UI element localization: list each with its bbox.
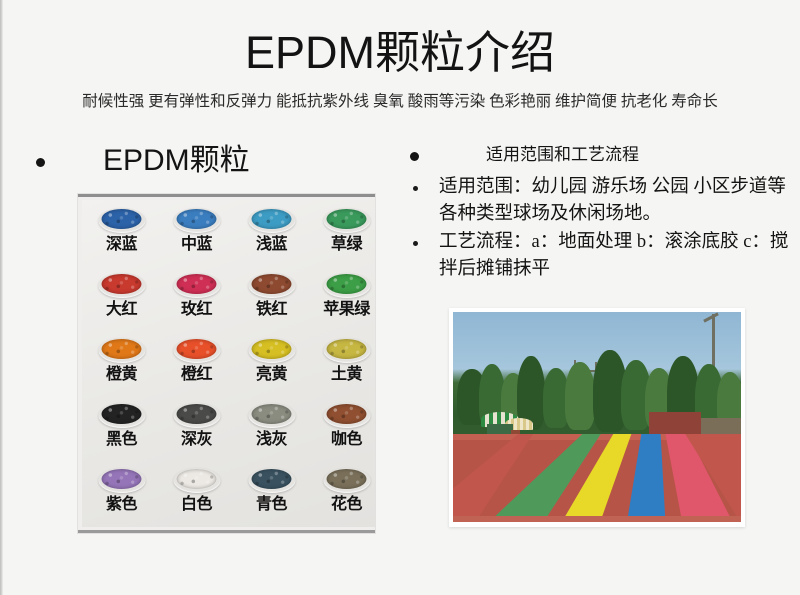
granule-grid: 深蓝中蓝浅蓝草绿大红玫红铁红苹果绿橙黄橙红亮黄土黄黑色深灰浅灰咖色紫色白色青色花…	[84, 208, 375, 533]
granule-dish	[98, 273, 145, 298]
granule-cell: 花色	[309, 468, 375, 533]
granule-dish	[248, 338, 295, 363]
tree-icon	[565, 362, 595, 430]
list-item: 适用范围：幼儿园 游乐场 公园 小区步道等各种类型球场及休闲场地。	[410, 174, 795, 228]
left-heading-row: EPDM颗粒	[36, 140, 396, 182]
granule-label: 玫红	[181, 300, 212, 320]
granule-cell: 紫色	[84, 468, 159, 533]
granule-cell: 橙黄	[84, 338, 159, 403]
granule-pellets	[177, 339, 217, 359]
granule-label: 浅灰	[256, 430, 287, 450]
right-column: 适用范围和工艺流程 适用范围：幼儿园 游乐场 公园 小区步道等各种类型球场及休闲…	[410, 142, 795, 284]
granule-cell: 铁红	[234, 273, 309, 338]
granule-color-chart-image: 深蓝中蓝浅蓝草绿大红玫红铁红苹果绿橙黄橙红亮黄土黄黑色深灰浅灰咖色紫色白色青色花…	[78, 194, 375, 533]
slide-left-edge	[0, 0, 3, 595]
granule-label: 亮黄	[256, 365, 287, 385]
granule-dish	[173, 403, 220, 428]
granule-row: 大红玫红铁红苹果绿	[84, 273, 375, 338]
granule-row: 紫色白色青色花色	[84, 468, 375, 533]
granule-pellets	[177, 469, 217, 489]
granule-cell: 浅灰	[234, 403, 309, 468]
granule-row: 深蓝中蓝浅蓝草绿	[84, 208, 375, 273]
granule-pellets	[102, 274, 142, 294]
granule-dish	[173, 208, 220, 233]
granule-cell: 黑色	[84, 403, 159, 468]
granule-dish	[323, 273, 370, 298]
granule-dish	[323, 403, 370, 428]
granule-cell: 浅蓝	[234, 208, 309, 273]
granule-label: 深蓝	[106, 235, 137, 255]
granule-cell: 深灰	[159, 403, 234, 468]
granule-pellets	[102, 404, 142, 424]
granule-dish	[323, 208, 370, 233]
granule-pellets	[102, 469, 142, 489]
granule-dish	[173, 273, 220, 298]
bullet-icon	[413, 186, 418, 191]
granule-pellets	[102, 209, 142, 229]
granule-pellets	[252, 339, 292, 359]
epdm-court	[453, 434, 741, 522]
granule-label: 花色	[331, 495, 362, 515]
granule-pellets	[252, 209, 292, 229]
granule-cell: 草绿	[309, 208, 375, 273]
left-column-heading: EPDM颗粒	[103, 140, 250, 182]
right-heading-row: 适用范围和工艺流程	[410, 142, 795, 168]
fence	[649, 412, 701, 434]
granule-row: 橙黄橙红亮黄土黄	[84, 338, 375, 403]
granule-dish	[323, 338, 370, 363]
granule-cell: 中蓝	[159, 208, 234, 273]
granule-cell: 白色	[159, 468, 234, 533]
slide-canvas: EPDM颗粒介绍 耐候性强 更有弹性和反弹力 能抵抗紫外线 臭氧 酸雨等污染 色…	[0, 0, 800, 595]
granule-label: 青色	[256, 495, 287, 515]
granule-label: 草绿	[331, 235, 362, 255]
granule-dish	[173, 468, 220, 493]
granule-dish	[98, 403, 145, 428]
bullet-icon	[36, 158, 45, 167]
granule-label: 深灰	[181, 430, 212, 450]
granule-pellets	[327, 404, 367, 424]
granule-pellets	[177, 404, 217, 424]
granule-label: 中蓝	[181, 235, 212, 255]
bullet-icon	[410, 152, 419, 161]
granule-pellets	[177, 274, 217, 294]
granule-dish	[98, 338, 145, 363]
granule-cell: 青色	[234, 468, 309, 533]
granule-label: 大红	[106, 300, 137, 320]
granule-label: 橙黄	[106, 365, 137, 385]
granule-cell: 咖色	[309, 403, 375, 468]
playground-scene	[453, 312, 741, 522]
granule-pellets	[327, 209, 367, 229]
granule-cell: 苹果绿	[309, 273, 375, 338]
granule-label: 铁红	[256, 300, 287, 320]
granule-pellets	[102, 339, 142, 359]
granule-cell: 土黄	[309, 338, 375, 403]
left-column: EPDM颗粒	[36, 140, 396, 182]
granule-pellets	[327, 274, 367, 294]
granule-label: 浅蓝	[256, 235, 287, 255]
page-subtitle: 耐候性强 更有弹性和反弹力 能抵抗紫外线 臭氧 酸雨等污染 色彩艳丽 维护简便 …	[0, 91, 800, 113]
granule-dish	[248, 468, 295, 493]
granule-label: 土黄	[331, 365, 362, 385]
granule-dish	[98, 208, 145, 233]
granule-cell: 橙红	[159, 338, 234, 403]
image-top-edge	[78, 194, 375, 197]
scope-text: 适用范围：幼儿园 游乐场 公园 小区步道等各种类型球场及休闲场地。	[439, 174, 795, 228]
image-bottom-edge	[78, 530, 375, 533]
granule-cell: 大红	[84, 273, 159, 338]
granule-dish	[248, 208, 295, 233]
bullet-icon	[413, 241, 418, 246]
granule-pellets	[252, 404, 292, 424]
granule-cell: 亮黄	[234, 338, 309, 403]
process-text: 工艺流程：a：地面处理 b：滚涂底胶 c：搅拌后摊铺抹平	[439, 229, 795, 283]
list-item: 工艺流程：a：地面处理 b：滚涂底胶 c：搅拌后摊铺抹平	[410, 229, 795, 283]
fence	[701, 418, 741, 434]
granule-label: 白色	[181, 495, 212, 515]
granule-label: 苹果绿	[323, 300, 370, 320]
granule-dish	[323, 468, 370, 493]
granule-label: 咖色	[331, 430, 362, 450]
granule-cell: 深蓝	[84, 208, 159, 273]
granule-pellets	[177, 209, 217, 229]
granule-cell: 玫红	[159, 273, 234, 338]
granule-dish	[248, 273, 295, 298]
granule-pellets	[327, 469, 367, 489]
court-near-border	[453, 516, 741, 522]
granule-label: 黑色	[106, 430, 137, 450]
granule-pellets	[252, 469, 292, 489]
granule-label: 橙红	[181, 365, 212, 385]
granule-label: 紫色	[106, 495, 137, 515]
granule-row: 黑色深灰浅灰咖色	[84, 403, 375, 468]
page-title: EPDM颗粒介绍	[0, 24, 800, 82]
granule-board: 深蓝中蓝浅蓝草绿大红玫红铁红苹果绿橙黄橙红亮黄土黄黑色深灰浅灰咖色紫色白色青色花…	[82, 200, 375, 527]
playground-photo	[449, 308, 745, 527]
granule-dish	[248, 403, 295, 428]
granule-dish	[98, 468, 145, 493]
right-column-heading: 适用范围和工艺流程	[486, 142, 639, 168]
granule-pellets	[252, 274, 292, 294]
granule-pellets	[327, 339, 367, 359]
granule-dish	[173, 338, 220, 363]
